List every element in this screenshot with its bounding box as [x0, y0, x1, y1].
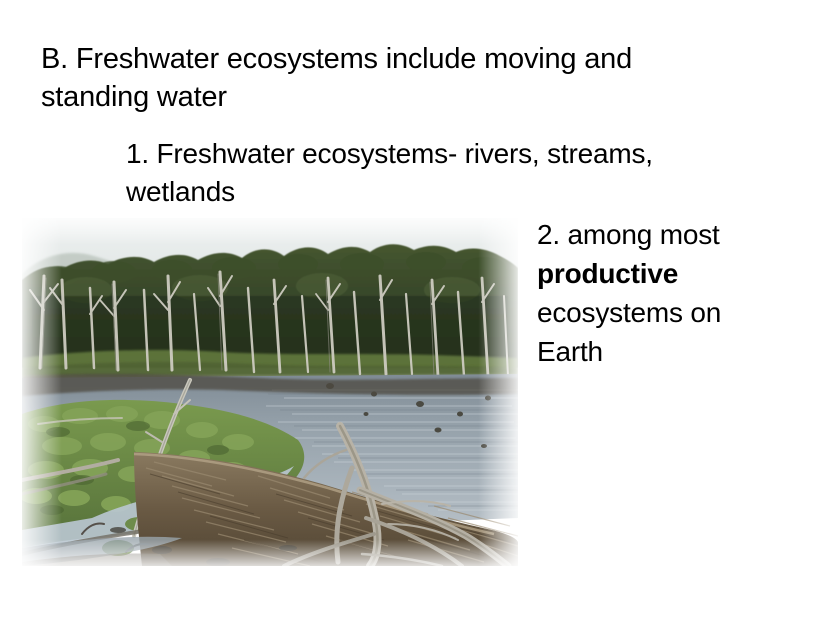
bullet-item-1: 1. Freshwater ecosystems- rivers, stream… — [126, 135, 766, 211]
photograph-image — [22, 218, 518, 566]
slide-canvas: B. Freshwater ecosystems include moving … — [0, 0, 828, 621]
bullet-item-1-line-1: 1. Freshwater ecosystems- rivers, stream… — [126, 135, 766, 173]
page-title: B. Freshwater ecosystems include moving … — [41, 40, 741, 116]
bullet-item-2-line-1: 2. among most — [537, 215, 787, 254]
bullet-item-2-line-4: Earth — [537, 332, 787, 371]
bullet-item-2: 2. among most productive ecosystems on E… — [537, 215, 787, 371]
bullet-item-2-emphasis: productive — [537, 254, 787, 293]
page-title-line-2: standing water — [41, 78, 741, 116]
page-title-line-1: B. Freshwater ecosystems include moving … — [41, 40, 741, 78]
beaver-dam-wetland-photograph — [22, 218, 518, 566]
bullet-item-2-line-3: ecosystems on — [537, 293, 787, 332]
wetland-scene-illustration — [22, 218, 518, 566]
bullet-item-1-line-2: wetlands — [126, 173, 766, 211]
